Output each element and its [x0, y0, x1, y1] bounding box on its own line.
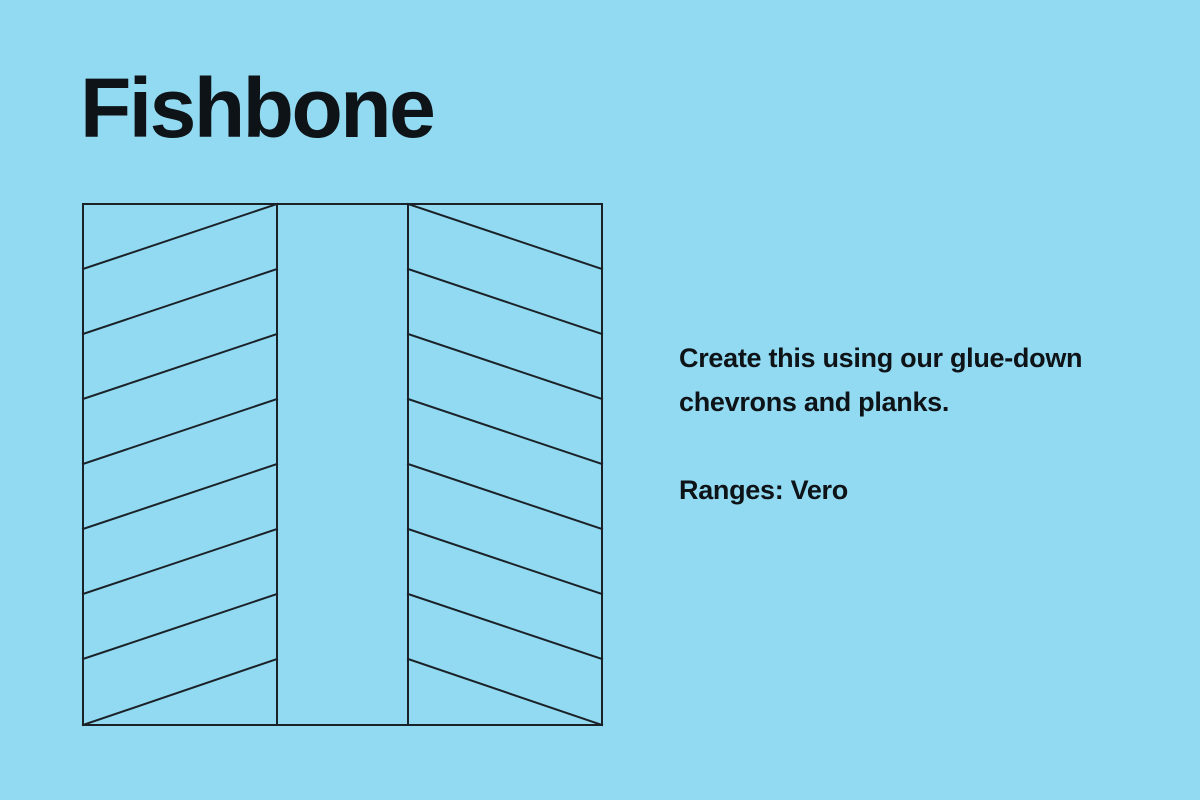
chevron-line-left [83, 269, 277, 334]
fishbone-pattern-svg [80, 201, 610, 733]
copy-spacer [679, 424, 1099, 468]
chevron-line-right [408, 204, 602, 269]
chevron-line-right [408, 334, 602, 399]
chevron-line-right [408, 529, 602, 594]
ranges-text: Ranges: Vero [679, 468, 1099, 512]
chevron-line-right [408, 594, 602, 659]
right-panel-chevrons [408, 204, 602, 725]
chevron-line-left [83, 594, 277, 659]
slide-canvas: Fishbone [0, 0, 1200, 800]
fishbone-pattern-diagram [80, 201, 610, 738]
pattern-outer-border [83, 204, 602, 725]
left-panel-chevrons [83, 204, 277, 725]
chevron-line-left [83, 464, 277, 529]
description-text: Create this using our glue-down chevrons… [679, 336, 1099, 424]
chevron-line-right [408, 269, 602, 334]
chevron-line-left [83, 204, 277, 269]
chevron-line-right [408, 659, 602, 725]
chevron-line-left [83, 334, 277, 399]
chevron-line-left [83, 399, 277, 464]
chevron-line-right [408, 464, 602, 529]
page-title: Fishbone [80, 66, 433, 150]
chevron-line-right [408, 399, 602, 464]
description-block: Create this using our glue-down chevrons… [679, 336, 1099, 512]
chevron-line-left [83, 659, 277, 725]
chevron-line-left [83, 529, 277, 594]
